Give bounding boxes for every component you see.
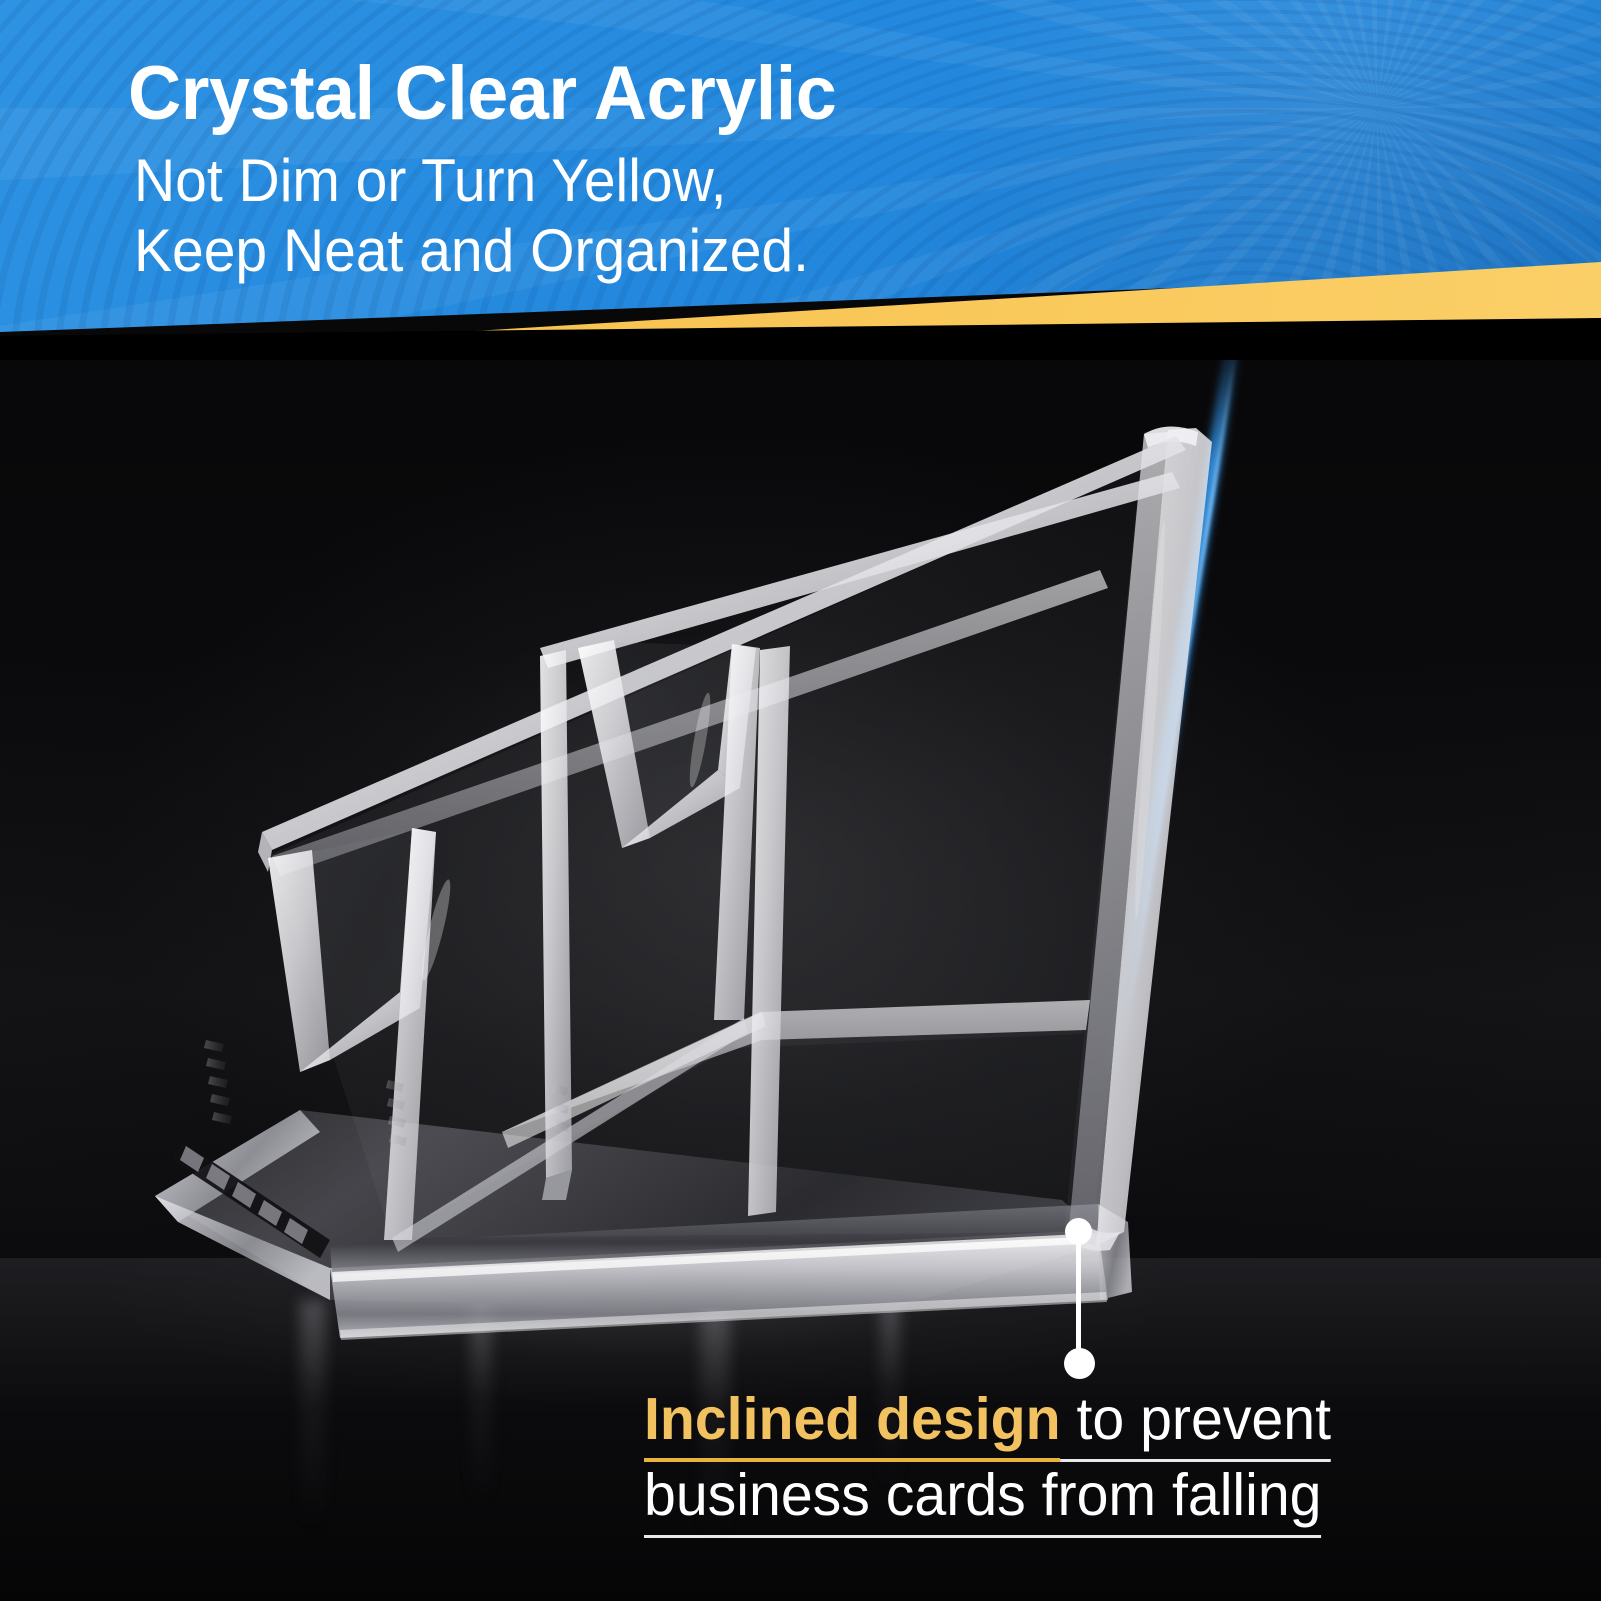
banner-subhead-line-2: Keep Neat and Organized. bbox=[134, 216, 809, 286]
callout-line-2-text: business cards from falling bbox=[644, 1462, 1322, 1538]
banner-subhead-line-1: Not Dim or Turn Yellow, bbox=[134, 146, 809, 216]
callout-line-1-rest: to prevent bbox=[1061, 1386, 1331, 1462]
leader-dot-bottom-icon bbox=[1064, 1348, 1095, 1379]
header-banner: Crystal Clear Acrylic Not Dim or Turn Ye… bbox=[0, 0, 1601, 360]
feature-callout: Inclined design to prevent business card… bbox=[644, 1382, 1544, 1533]
product-marketing-image: Crystal Clear Acrylic Not Dim or Turn Ye… bbox=[0, 0, 1601, 1601]
page-title: Crystal Clear Acrylic bbox=[128, 56, 836, 132]
leader-line bbox=[1076, 1232, 1081, 1360]
callout-line-2: business cards from falling bbox=[644, 1458, 1517, 1534]
leader-dot-top-icon bbox=[1065, 1218, 1092, 1245]
callout-line-1: Inclined design to prevent bbox=[644, 1382, 1517, 1458]
callout-highlight: Inclined design bbox=[644, 1386, 1061, 1462]
banner-subhead: Not Dim or Turn Yellow, Keep Neat and Or… bbox=[134, 146, 809, 286]
